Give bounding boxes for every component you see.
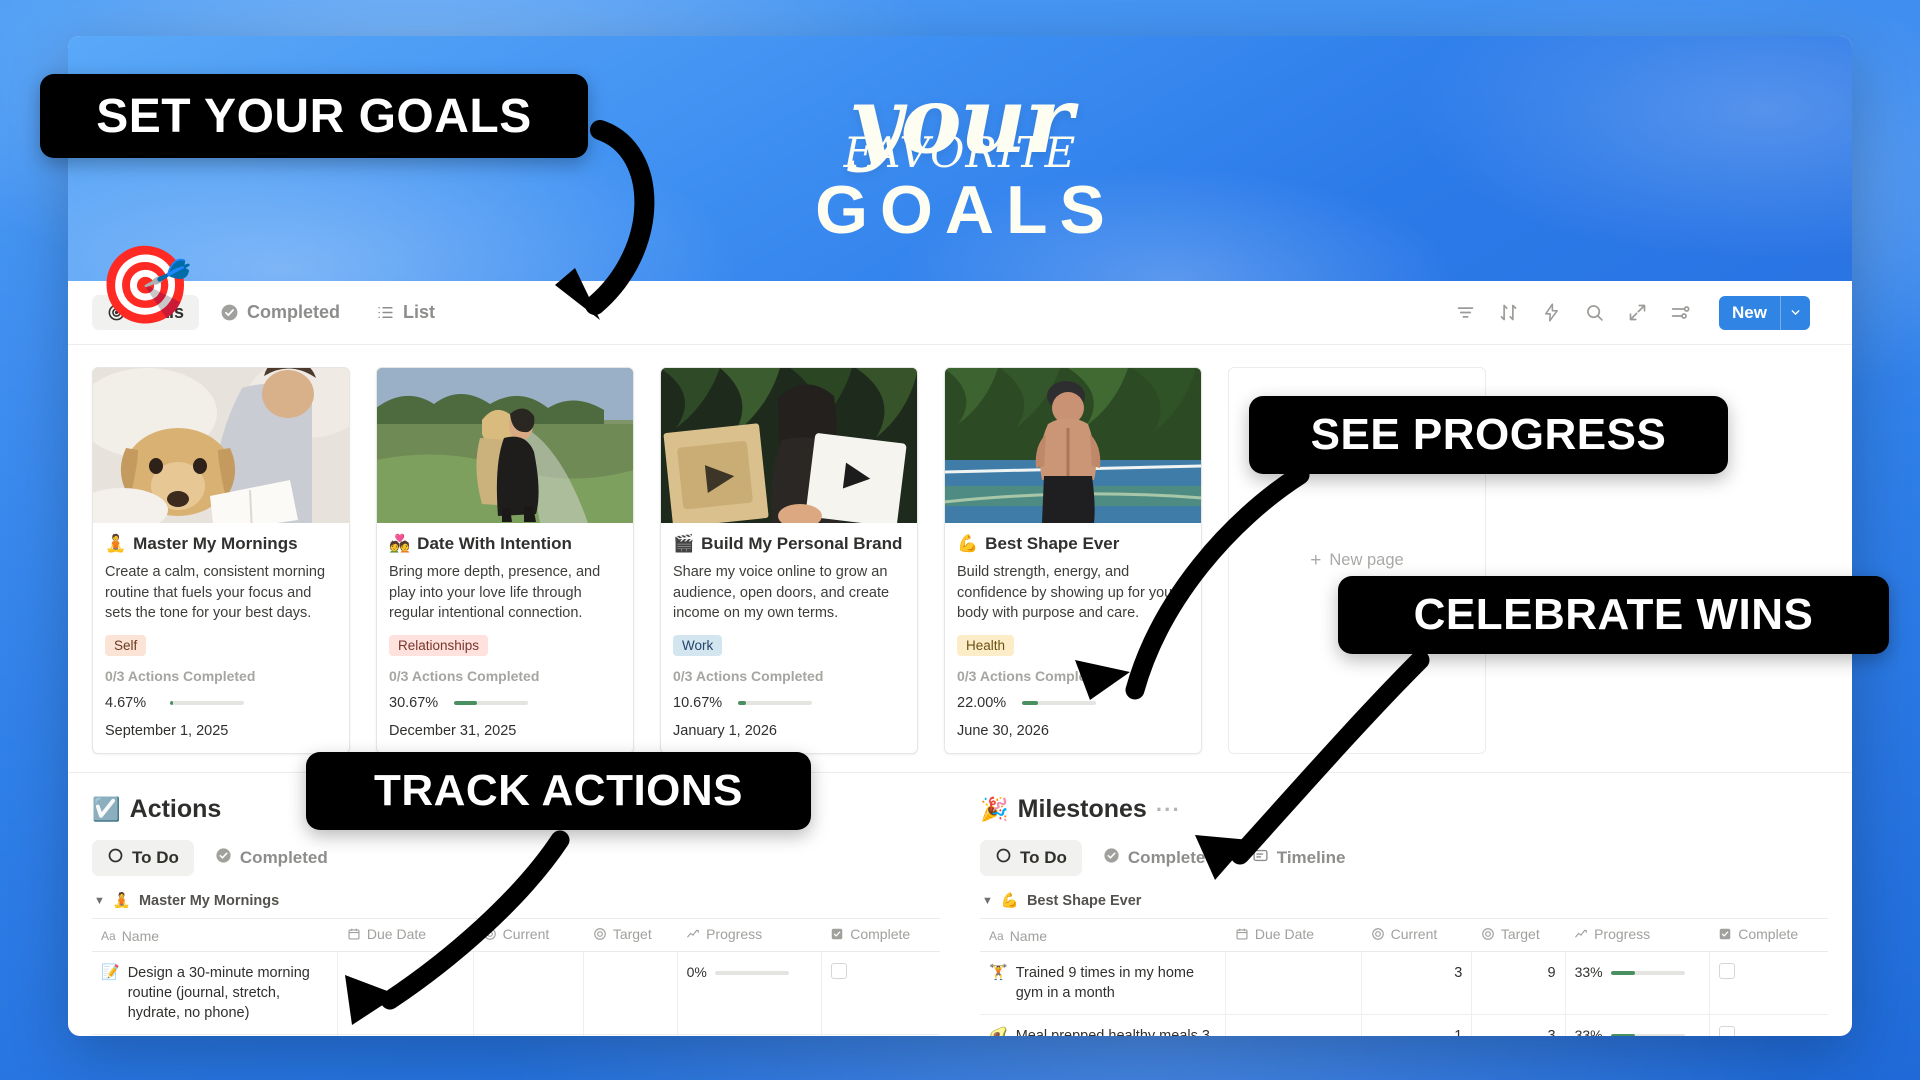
goal-actions-count: 0/3 Actions Completed bbox=[957, 668, 1189, 684]
actions-table: AaName Due Date Current Target Progress bbox=[92, 918, 940, 1036]
view-actions: New bbox=[1455, 296, 1810, 330]
cell-current[interactable]: 3 bbox=[1362, 952, 1472, 1015]
chevron-down-icon[interactable] bbox=[1780, 296, 1810, 330]
text-icon: Aa bbox=[989, 929, 1004, 943]
checkbox-icon bbox=[1718, 927, 1732, 941]
cell-complete[interactable] bbox=[821, 952, 940, 1035]
complete-checkbox[interactable] bbox=[1719, 963, 1735, 979]
new-page-label: New page bbox=[1329, 551, 1403, 570]
checkbox-icon bbox=[830, 927, 844, 941]
goal-title-text: Date With Intention bbox=[417, 534, 572, 554]
goal-actions-count: 0/3 Actions Completed bbox=[673, 668, 905, 684]
automation-icon[interactable] bbox=[1541, 302, 1562, 323]
tab-list-label: List bbox=[403, 302, 435, 323]
cell-progress: 33% bbox=[1565, 952, 1709, 1015]
goal-target-date: December 31, 2025 bbox=[389, 723, 621, 739]
circle-icon bbox=[995, 847, 1012, 869]
logo-line-goals: GOALS bbox=[803, 176, 1117, 244]
check-circle-icon bbox=[215, 847, 232, 869]
cell-target[interactable] bbox=[584, 1035, 677, 1037]
milestones-group-label: Best Shape Ever bbox=[1027, 893, 1141, 909]
cell-current[interactable] bbox=[474, 952, 584, 1035]
milestones-tab-todo[interactable]: To Do bbox=[980, 840, 1082, 876]
expand-icon[interactable] bbox=[1627, 302, 1648, 323]
row-progress-bar bbox=[715, 971, 789, 975]
cell-name[interactable]: 🏋️Trained 9 times in my home gym in a mo… bbox=[980, 952, 1226, 1015]
new-button-label: New bbox=[1719, 296, 1780, 330]
search-icon[interactable] bbox=[1584, 302, 1605, 323]
goal-title-text: Best Shape Ever bbox=[985, 534, 1119, 554]
more-options-icon[interactable]: ··· bbox=[1156, 797, 1181, 823]
page-logo: your FAVORITE GOALS bbox=[803, 74, 1117, 244]
goal-card-title: 💪 Best Shape Ever bbox=[957, 534, 1189, 554]
milestones-tab-timeline[interactable]: Timeline bbox=[1237, 840, 1361, 876]
annotation-see-progress: SEE PROGRESS bbox=[1249, 396, 1728, 474]
goal-title-text: Build My Personal Brand bbox=[701, 534, 902, 554]
new-button[interactable]: New bbox=[1719, 296, 1810, 330]
calendar-icon bbox=[347, 927, 361, 941]
column-header-name[interactable]: AaName bbox=[980, 919, 1226, 952]
cell-target[interactable] bbox=[584, 952, 677, 1035]
list-icon bbox=[376, 303, 395, 322]
chart-icon bbox=[1574, 927, 1588, 941]
milestones-tab-completed[interactable]: Completed bbox=[1088, 840, 1231, 876]
goal-target-date: January 1, 2026 bbox=[673, 723, 905, 739]
complete-checkbox[interactable] bbox=[1719, 1026, 1735, 1036]
target-icon bbox=[1481, 927, 1495, 941]
goal-cover-image bbox=[945, 368, 1201, 523]
cell-current[interactable] bbox=[474, 1035, 584, 1037]
column-header-current[interactable]: Current bbox=[1362, 919, 1472, 952]
goal-category-tag: Health bbox=[957, 635, 1014, 656]
goal-description: Share my voice online to grow an audienc… bbox=[673, 562, 905, 624]
actions-view-tabs: To Do Completed bbox=[92, 840, 940, 876]
goal-progress-fill bbox=[454, 701, 477, 705]
table-row[interactable]: 📝Design a 30-minute morning routine (jou… bbox=[92, 952, 940, 1035]
target-icon bbox=[593, 927, 607, 941]
cell-current[interactable]: 1 bbox=[1362, 1015, 1472, 1037]
cell-progress: 0% bbox=[677, 952, 821, 1035]
goal-card[interactable]: 💑 Date With Intention Bring more depth, … bbox=[376, 367, 634, 754]
goal-emoji: 💑 bbox=[389, 534, 410, 554]
cell-progress: 0% bbox=[677, 1035, 821, 1037]
cell-target[interactable]: 9 bbox=[1472, 952, 1565, 1015]
column-header-current[interactable]: Current bbox=[474, 919, 584, 952]
goal-card[interactable]: 💪 Best Shape Ever Build strength, energy… bbox=[944, 367, 1202, 754]
column-header-target[interactable]: Target bbox=[1472, 919, 1565, 952]
row-emoji: 🥑 bbox=[989, 1026, 1008, 1036]
column-header-due-date[interactable]: Due Date bbox=[338, 919, 474, 952]
actions-tab-completed[interactable]: Completed bbox=[200, 840, 343, 876]
sort-icon[interactable] bbox=[1498, 302, 1519, 323]
actions-panel: ☑️ Actions To Do Completed ▼ bbox=[92, 795, 940, 1036]
app-window: your FAVORITE GOALS 🎯 Goals Completed bbox=[68, 36, 1852, 1036]
cell-due-date[interactable] bbox=[338, 952, 474, 1035]
milestones-table: AaName Due Date Current Target Progress bbox=[980, 918, 1828, 1036]
page-cover: your FAVORITE GOALS bbox=[68, 36, 1852, 281]
timeline-icon bbox=[1252, 847, 1269, 869]
column-header-complete[interactable]: Complete bbox=[1709, 919, 1828, 952]
annotation-celebrate-wins: CELEBRATE WINS bbox=[1338, 576, 1889, 654]
chevron-down-icon[interactable]: ▼ bbox=[982, 895, 993, 907]
milestones-group-emoji: 💪 bbox=[1001, 892, 1019, 909]
goal-emoji: 🎬 bbox=[673, 534, 694, 554]
table-row[interactable]: 🌟Set a consistent wake-up time, even on … bbox=[92, 1035, 940, 1037]
goal-progress-fill bbox=[1022, 701, 1038, 705]
tab-list[interactable]: List bbox=[361, 295, 450, 330]
milestones-group-row[interactable]: ▼ 💪 Best Shape Ever bbox=[980, 892, 1828, 909]
actions-group-row[interactable]: ▼ 🧘 Master My Mornings bbox=[92, 892, 940, 909]
page-icon-target[interactable]: 🎯 bbox=[98, 248, 193, 1036]
goal-category-tag: Work bbox=[673, 635, 722, 656]
cell-due-date[interactable] bbox=[1226, 1015, 1362, 1037]
goal-card-body: 💪 Best Shape Ever Build strength, energy… bbox=[945, 523, 1201, 753]
column-header-progress[interactable]: Progress bbox=[677, 919, 821, 952]
annotation-track-actions: TRACK ACTIONS bbox=[306, 752, 811, 830]
goal-card-title: 💑 Date With Intention bbox=[389, 534, 621, 554]
goal-card-title: 🎬 Build My Personal Brand bbox=[673, 534, 905, 554]
table-row[interactable]: 🥑Meal prepped healthy meals 3 weeks in a… bbox=[980, 1015, 1828, 1037]
goal-target-date: June 30, 2026 bbox=[957, 723, 1189, 739]
party-popper-emoji-icon: 🎉 bbox=[980, 796, 1009, 823]
goal-cover-image bbox=[377, 368, 633, 523]
milestones-tab-todo-label: To Do bbox=[1020, 848, 1067, 868]
cell-due-date[interactable] bbox=[338, 1035, 474, 1037]
check-circle-icon bbox=[1103, 847, 1120, 869]
cell-due-date[interactable] bbox=[1226, 952, 1362, 1015]
view-toolbar: Goals Completed List bbox=[68, 281, 1852, 345]
goal-progress-percent: 10.67% bbox=[673, 695, 729, 711]
goal-description: Bring more depth, presence, and play int… bbox=[389, 562, 621, 624]
goal-description: Build strength, energy, and confidence b… bbox=[957, 562, 1189, 624]
cell-progress: 33% bbox=[1565, 1015, 1709, 1037]
cell-complete[interactable] bbox=[1709, 952, 1828, 1015]
logo-line-favorite: FAVORITE bbox=[803, 132, 1117, 174]
tab-completed-label: Completed bbox=[247, 302, 340, 323]
goal-card[interactable]: 🎬 Build My Personal Brand Share my voice… bbox=[660, 367, 918, 754]
goal-progress-bar bbox=[738, 701, 812, 705]
goal-cover-image bbox=[661, 368, 917, 523]
column-header-progress[interactable]: Progress bbox=[1565, 919, 1709, 952]
goal-progress: 22.00% bbox=[957, 695, 1189, 711]
actions-table-header: AaName Due Date Current Target Progress bbox=[92, 919, 940, 952]
row-emoji: 🏋️ bbox=[989, 963, 1008, 1003]
goal-emoji: 💪 bbox=[957, 534, 978, 554]
target-icon bbox=[1371, 927, 1385, 941]
tab-completed[interactable]: Completed bbox=[205, 295, 355, 330]
check-circle-icon bbox=[220, 303, 239, 322]
cell-complete[interactable] bbox=[821, 1035, 940, 1037]
target-icon bbox=[483, 927, 497, 941]
complete-checkbox[interactable] bbox=[831, 963, 847, 979]
column-header-complete[interactable]: Complete bbox=[821, 919, 940, 952]
milestones-panel: 🎉 Milestones ··· To Do Completed bbox=[980, 795, 1828, 1036]
milestones-tab-timeline-label: Timeline bbox=[1277, 848, 1346, 868]
cell-target[interactable]: 3 bbox=[1472, 1015, 1565, 1037]
milestones-panel-title: Milestones bbox=[1018, 795, 1147, 824]
goal-actions-count: 0/3 Actions Completed bbox=[389, 668, 621, 684]
filter-icon[interactable] bbox=[1455, 302, 1476, 323]
plus-icon: + bbox=[1310, 551, 1321, 570]
goal-progress-bar bbox=[1022, 701, 1096, 705]
goal-progress-percent: 22.00% bbox=[957, 695, 1013, 711]
cell-name[interactable]: 🥑Meal prepped healthy meals 3 weeks in a… bbox=[980, 1015, 1226, 1037]
goal-progress: 30.67% bbox=[389, 695, 621, 711]
milestones-tab-completed-label: Completed bbox=[1128, 848, 1216, 868]
goal-card-body: 💑 Date With Intention Bring more depth, … bbox=[377, 523, 633, 753]
row-progress-bar bbox=[1611, 1034, 1685, 1036]
column-header-target[interactable]: Target bbox=[584, 919, 677, 952]
display-settings-icon[interactable] bbox=[1670, 302, 1691, 323]
chart-icon bbox=[686, 927, 700, 941]
milestones-panel-header: 🎉 Milestones ··· bbox=[980, 795, 1828, 824]
goal-progress: 10.67% bbox=[673, 695, 905, 711]
goal-progress-fill bbox=[738, 701, 746, 705]
goal-progress-percent: 30.67% bbox=[389, 695, 445, 711]
table-row[interactable]: 🏋️Trained 9 times in my home gym in a mo… bbox=[980, 952, 1828, 1015]
column-header-due-date[interactable]: Due Date bbox=[1226, 919, 1362, 952]
annotation-set-your-goals: SET YOUR GOALS bbox=[40, 74, 588, 158]
milestones-table-header: AaName Due Date Current Target Progress bbox=[980, 919, 1828, 952]
goal-category-tag: Relationships bbox=[389, 635, 488, 656]
actions-tab-completed-label: Completed bbox=[240, 848, 328, 868]
cell-complete[interactable] bbox=[1709, 1015, 1828, 1037]
milestones-view-tabs: To Do Completed Timeline bbox=[980, 840, 1828, 876]
goal-card-body: 🎬 Build My Personal Brand Share my voice… bbox=[661, 523, 917, 753]
goal-progress-bar bbox=[454, 701, 528, 705]
calendar-icon bbox=[1235, 927, 1249, 941]
row-progress-bar bbox=[1611, 971, 1685, 975]
